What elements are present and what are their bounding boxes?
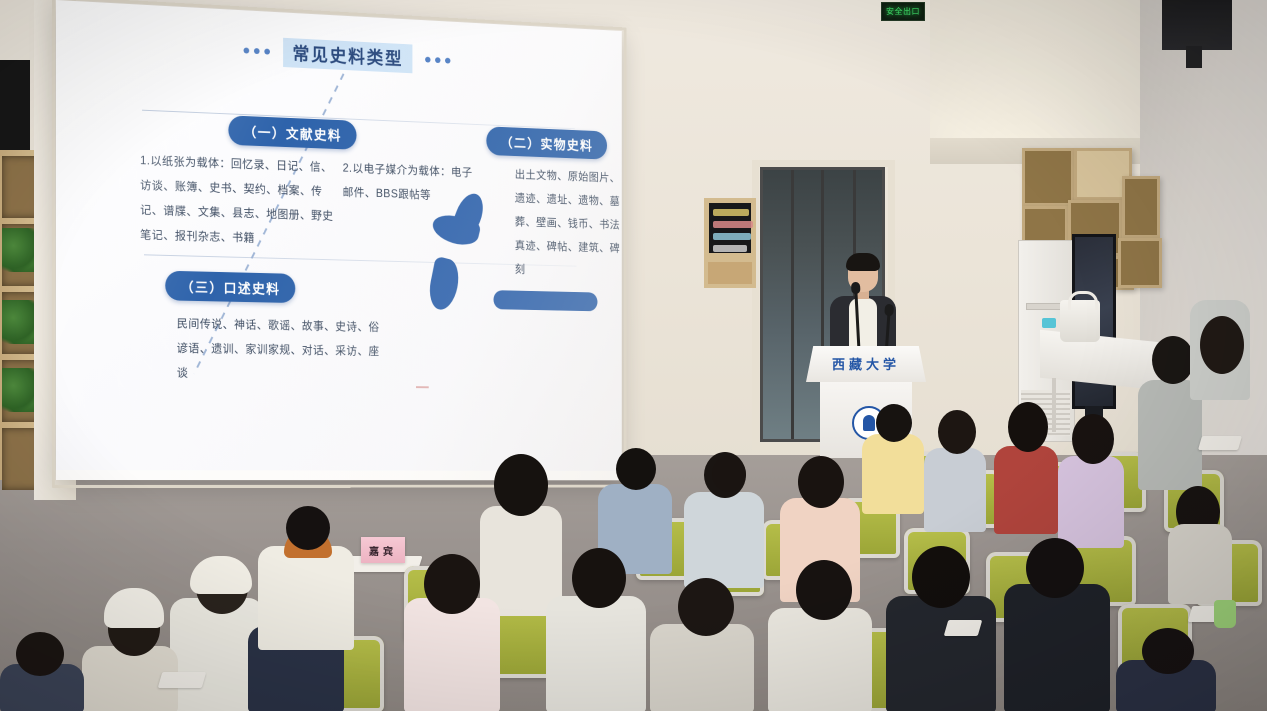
guest-name-card-text: 嘉宾 <box>369 543 397 558</box>
tablet-desk <box>944 620 983 636</box>
lectern-institution-name: 西藏大学 <box>806 354 926 373</box>
guest-name-card: 嘉宾 <box>361 537 405 563</box>
right-wall-lit <box>930 0 1160 160</box>
screen-frame <box>52 0 626 488</box>
tablet-desk <box>1198 436 1242 450</box>
ac-badge <box>1042 318 1056 328</box>
speaker-mount <box>1186 46 1202 68</box>
exit-sign-text: 安全出口 <box>886 6 920 17</box>
ceiling-speaker <box>1162 0 1232 50</box>
chalkboard <box>704 198 756 258</box>
drink-cup <box>1214 600 1236 628</box>
wall-cubby <box>1118 238 1162 288</box>
bag-handle <box>1068 291 1098 310</box>
lecture-hall-photo: 安全出口 常见史料类型 <box>0 0 1267 711</box>
tablet-desk <box>158 672 207 688</box>
wall-cubby <box>1022 148 1074 206</box>
cork-board <box>704 258 756 288</box>
exit-sign-icon: 安全出口 <box>881 2 925 21</box>
wall-cubby <box>1122 176 1160 238</box>
